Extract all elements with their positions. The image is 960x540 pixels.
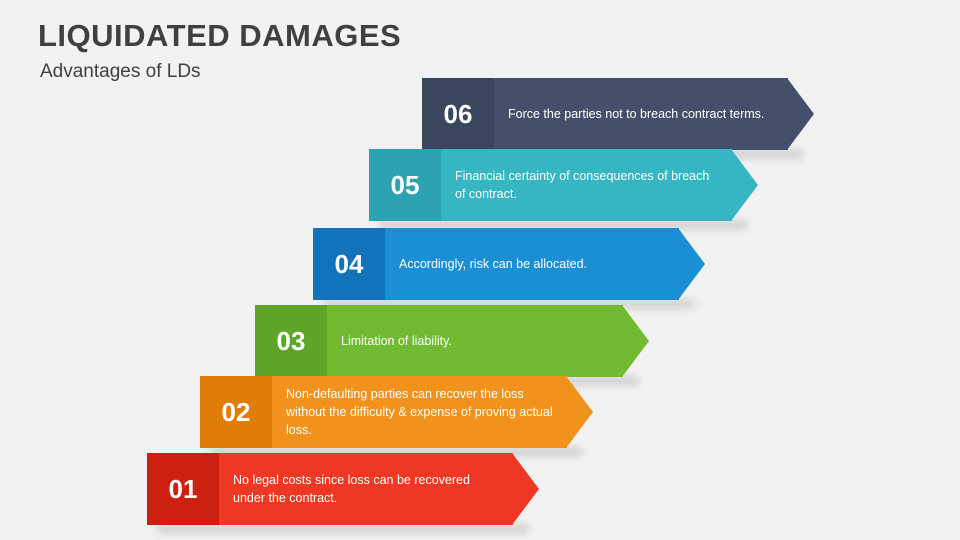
chevron-label-text: Non-defaulting parties can recover the l…: [286, 385, 553, 439]
chevron-label-text: No legal costs since loss can be recover…: [233, 471, 499, 507]
chevron-label: No legal costs since loss can be recover…: [233, 453, 499, 525]
chevron-number: 04: [313, 228, 385, 300]
page-title: LIQUIDATED DAMAGES: [38, 18, 401, 54]
chevron-label-text: Financial certainty of consequences of b…: [455, 167, 718, 203]
chevron-item-04[interactable]: 04Accordingly, risk can be allocated.: [313, 228, 705, 300]
chevron-label: Accordingly, risk can be allocated.: [399, 228, 665, 300]
chevron-number: 01: [147, 453, 219, 525]
chevron-arrow-tip: [566, 376, 593, 448]
chevron-number: 03: [255, 305, 327, 377]
chevron-item-05[interactable]: 05Financial certainty of consequences of…: [369, 149, 758, 221]
slide: LIQUIDATED DAMAGES Advantages of LDs 06F…: [0, 0, 960, 540]
chevron-arrow-tip: [622, 305, 649, 377]
chevron-number: 05: [369, 149, 441, 221]
chevron-arrow-tip: [787, 78, 814, 150]
chevron-number: 06: [422, 78, 494, 150]
chevron-arrow-tip: [678, 228, 705, 300]
chevron-label: Financial certainty of consequences of b…: [455, 149, 718, 221]
chevron-label-text: Limitation of liability.: [341, 332, 452, 350]
chevron-item-03[interactable]: 03Limitation of liability.: [255, 305, 649, 377]
chevron-arrow-tip: [731, 149, 758, 221]
chevron-label: Force the parties not to breach contract…: [508, 78, 774, 150]
chevron-item-06[interactable]: 06Force the parties not to breach contra…: [422, 78, 814, 150]
chevron-shadow: [157, 524, 529, 534]
chevron-number: 02: [200, 376, 272, 448]
chevron-label-text: Accordingly, risk can be allocated.: [399, 255, 587, 273]
chevron-arrow-tip: [512, 453, 539, 525]
chevron-label: Non-defaulting parties can recover the l…: [286, 376, 553, 448]
chevron-label: Limitation of liability.: [341, 305, 609, 377]
page-subtitle: Advantages of LDs: [40, 61, 201, 83]
chevron-item-01[interactable]: 01No legal costs since loss can be recov…: [147, 453, 539, 525]
chevron-item-02[interactable]: 02Non-defaulting parties can recover the…: [200, 376, 593, 448]
chevron-label-text: Force the parties not to breach contract…: [508, 105, 764, 123]
